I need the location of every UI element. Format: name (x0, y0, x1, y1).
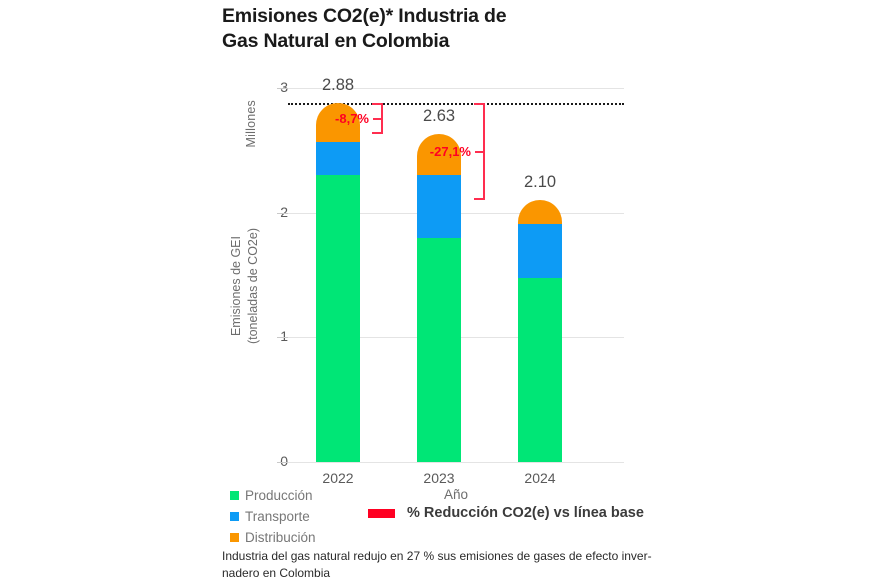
reduction-label-87: -8,7% (321, 111, 369, 126)
plot-area: 2.882.632.10 -8,7%-27,1% (288, 88, 624, 462)
legend-item-label: Distribución (245, 530, 316, 545)
reduction-label-271: -27,1% (423, 144, 471, 159)
bar-2022[interactable]: 2.88 (316, 88, 360, 462)
legend-item-label: Producción (245, 488, 313, 503)
bracket-arm-bottom (474, 198, 483, 200)
caption: Industria del gas natural redujo en 27 %… (222, 548, 662, 582)
bar-segment-produccin-2024[interactable] (518, 278, 562, 463)
legend-reduction: % Reducción CO2(e) vs línea base (368, 505, 644, 521)
y-tick-label: 1 (266, 328, 288, 344)
legend-swatch-icon (230, 512, 239, 521)
y-tick-mark (277, 337, 288, 338)
bar-segment-distribucin-2024[interactable] (518, 200, 562, 224)
bar-segment-produccin-2023[interactable] (417, 238, 461, 462)
legend-swatch-icon (230, 533, 239, 542)
y-tick-mark (277, 213, 288, 214)
legend-item-distribucin[interactable]: Distribución (230, 528, 316, 547)
bracket-arm-bottom (372, 132, 381, 134)
bar-segment-transporte-2024[interactable] (518, 224, 562, 278)
bracket-arm-top (372, 103, 381, 105)
page-title: Emisiones CO2(e)* Industria de Gas Natur… (222, 4, 642, 54)
legend-reduction-label: % Reducción CO2(e) vs línea base (407, 505, 644, 521)
y-tick-label: 0 (266, 453, 288, 469)
x-tick-label-2023: 2023 (394, 470, 484, 486)
bracket-mid-tick (475, 151, 483, 153)
y-tick-mark (277, 462, 288, 463)
x-axis-title: Año (288, 487, 624, 502)
bracket-spine (381, 103, 383, 134)
legend-swatch-icon (230, 491, 239, 500)
legend-series: ProducciónTransporteDistribución (230, 486, 316, 549)
bracket-arm-top (474, 103, 483, 105)
y-tick-mark (277, 88, 288, 89)
gridline (288, 462, 624, 463)
y-tick-label: 3 (266, 79, 288, 95)
bar-segment-produccin-2022[interactable] (316, 175, 360, 462)
bar-2024[interactable]: 2.10 (518, 88, 562, 462)
y-tick-label: 2 (266, 204, 288, 220)
legend-item-label: Transporte (245, 509, 310, 524)
bracket-mid-tick (373, 118, 381, 120)
x-tick-label-2024: 2024 (495, 470, 585, 486)
legend-item-transporte[interactable]: Transporte (230, 507, 316, 526)
bar-total-label-2024: 2.10 (495, 173, 585, 192)
red-line-swatch-icon (368, 509, 395, 518)
bracket-spine (483, 103, 485, 200)
y-axis: 0123 (255, 88, 288, 462)
bar-total-label-2023: 2.63 (394, 107, 484, 126)
bar-segment-transporte-2022[interactable] (316, 142, 360, 176)
legend-item-produccin[interactable]: Producción (230, 486, 316, 505)
bar-segment-transporte-2023[interactable] (417, 175, 461, 237)
bar-total-label-2022: 2.88 (293, 76, 383, 95)
x-tick-label-2022: 2022 (293, 470, 383, 486)
